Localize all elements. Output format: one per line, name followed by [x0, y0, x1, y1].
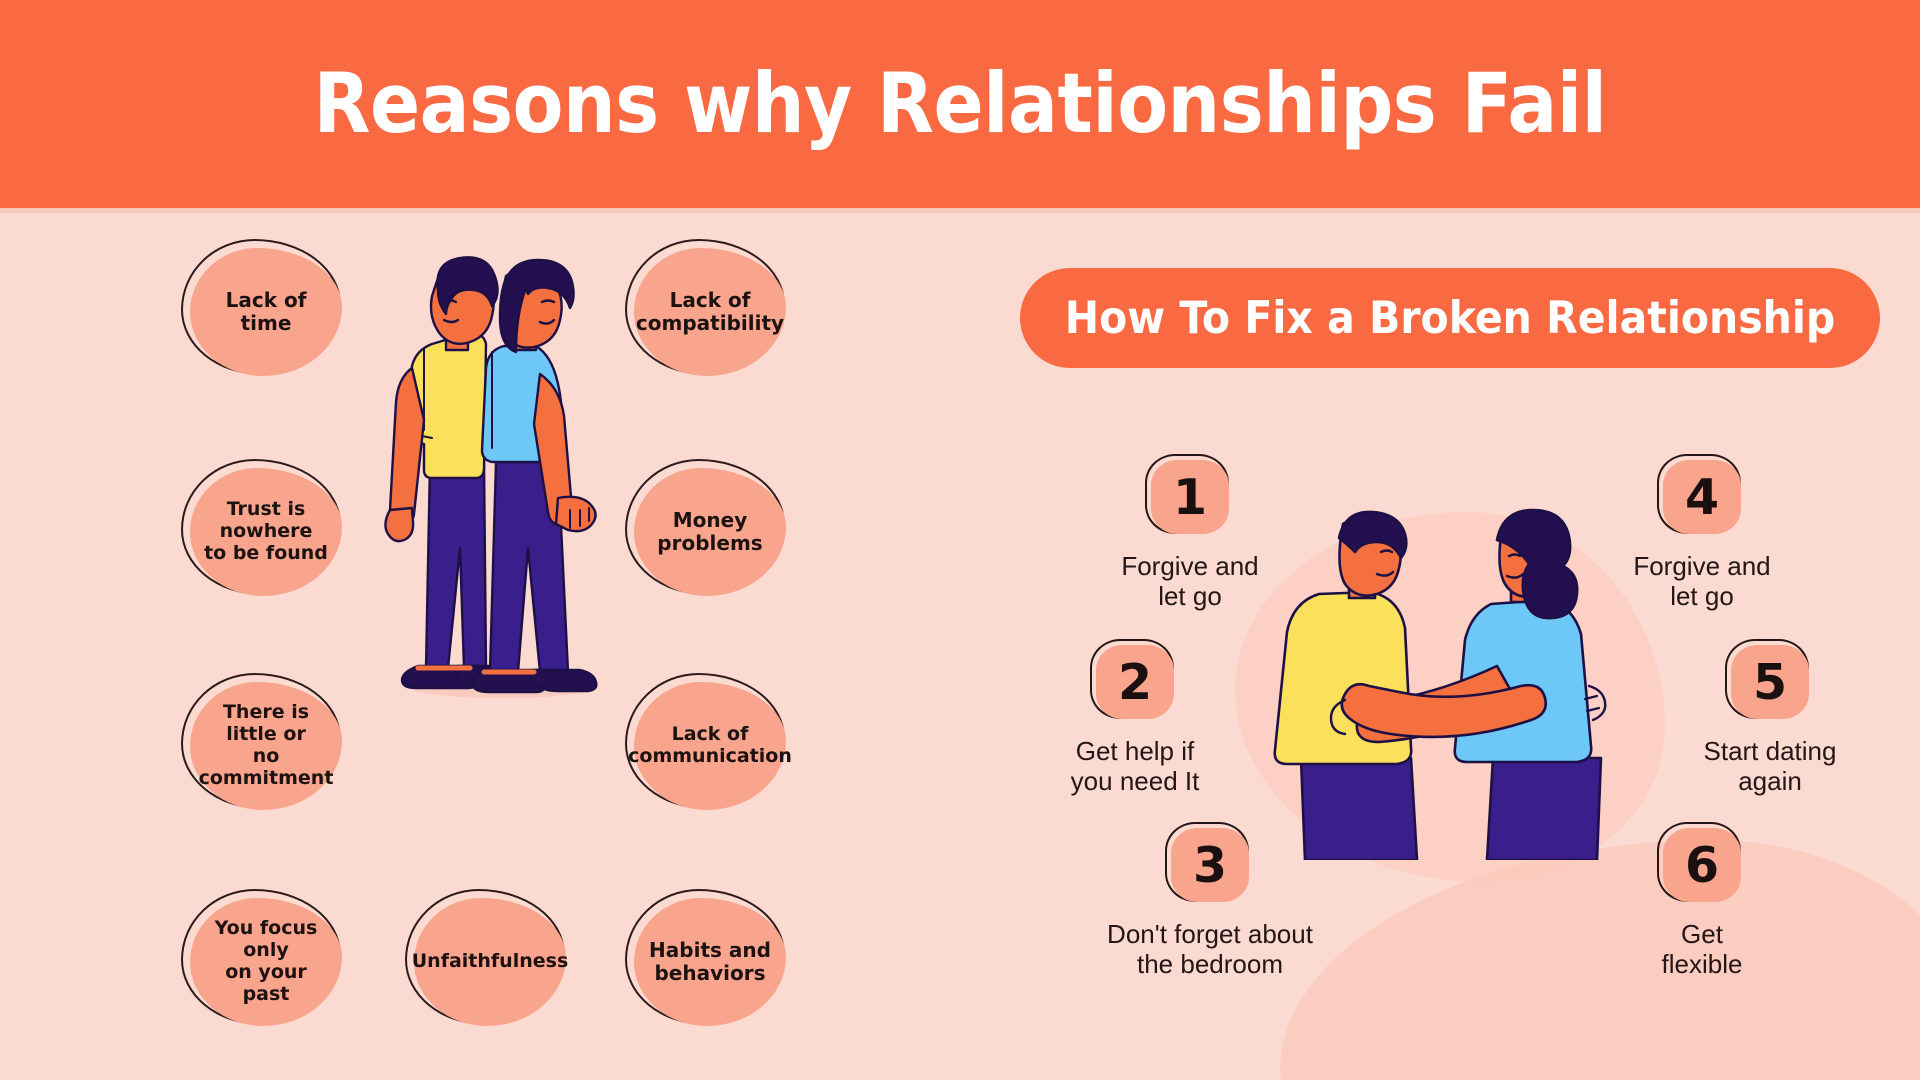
step-number: 6 — [1663, 828, 1741, 902]
fix-banner-title: How To Fix a Broken Relationship — [1065, 292, 1836, 344]
reason-card-label: Money problems — [647, 509, 772, 555]
reason-card-label: Lack of time — [216, 289, 317, 335]
header-banner: Reasons why Relationships Fail — [0, 0, 1920, 208]
fix-step-4[interactable]: 4 Forgive and let go — [1587, 460, 1817, 612]
step-number-badge: 1 — [1151, 460, 1229, 534]
step-label: Start dating again — [1655, 737, 1885, 797]
reason-card-little-commitment[interactable]: There is little or no commitment — [190, 682, 342, 810]
reason-card-trust-nowhere[interactable]: Trust is nowhere to be found — [190, 468, 342, 596]
reason-card-label: Unfaithfulness — [402, 951, 579, 973]
fix-step-6[interactable]: 6 Get flexible — [1587, 828, 1817, 980]
step-number-badge: 6 — [1663, 828, 1741, 902]
reason-card-label: Lack of compatibility — [626, 289, 794, 335]
page-title: Reasons why Relationships Fail — [313, 56, 1606, 152]
step-number-badge: 5 — [1731, 645, 1809, 719]
couple-hugging-illustration — [1245, 500, 1645, 860]
reason-card-label: There is little or no commitment — [189, 702, 344, 789]
reason-card-lack-of-time[interactable]: Lack of time — [190, 248, 342, 376]
reason-card-money-problems[interactable]: Money problems — [634, 468, 786, 596]
reason-card-focus-on-past[interactable]: You focus only on your past — [190, 898, 342, 1026]
step-label: Forgive and let go — [1587, 552, 1817, 612]
fix-step-5[interactable]: 5 Start dating again — [1655, 645, 1885, 797]
reason-card-label: You focus only on your past — [190, 918, 342, 1005]
fix-step-2[interactable]: 2 Get help if you need It — [1020, 645, 1250, 797]
step-number-badge: 2 — [1096, 645, 1174, 719]
reason-card-lack-communication[interactable]: Lack of communication — [634, 682, 786, 810]
step-number-badge: 4 — [1663, 460, 1741, 534]
step-number: 4 — [1663, 460, 1741, 534]
step-label: Don't forget about the bedroom — [1075, 920, 1345, 980]
infographic-canvas: Reasons why Relationships Fail — [0, 0, 1920, 1080]
step-number: 2 — [1096, 645, 1174, 719]
reason-card-unfaithfulness[interactable]: Unfaithfulness — [414, 898, 566, 1026]
fix-relationship-banner: How To Fix a Broken Relationship — [1020, 268, 1880, 368]
reason-card-habits-behaviors[interactable]: Habits and behaviors — [634, 898, 786, 1026]
step-number: 5 — [1731, 645, 1809, 719]
reason-card-label: Habits and behaviors — [639, 939, 781, 985]
fix-step-3[interactable]: 3 Don't forget about the bedroom — [1075, 828, 1345, 980]
reason-card-lack-compatibility[interactable]: Lack of compatibility — [634, 248, 786, 376]
header-edge-divider — [0, 208, 1920, 213]
step-number-badge: 3 — [1171, 828, 1249, 902]
step-label: Get flexible — [1587, 920, 1817, 980]
step-number: 3 — [1171, 828, 1249, 902]
reason-card-label: Lack of communication — [618, 724, 802, 768]
reason-card-label: Trust is nowhere to be found — [190, 499, 342, 565]
couple-back-to-back-illustration — [372, 248, 632, 700]
fix-step-1[interactable]: 1 Forgive and let go — [1075, 460, 1305, 612]
step-label: Get help if you need It — [1020, 737, 1250, 797]
step-label: Forgive and let go — [1075, 552, 1305, 612]
step-number: 1 — [1151, 460, 1229, 534]
